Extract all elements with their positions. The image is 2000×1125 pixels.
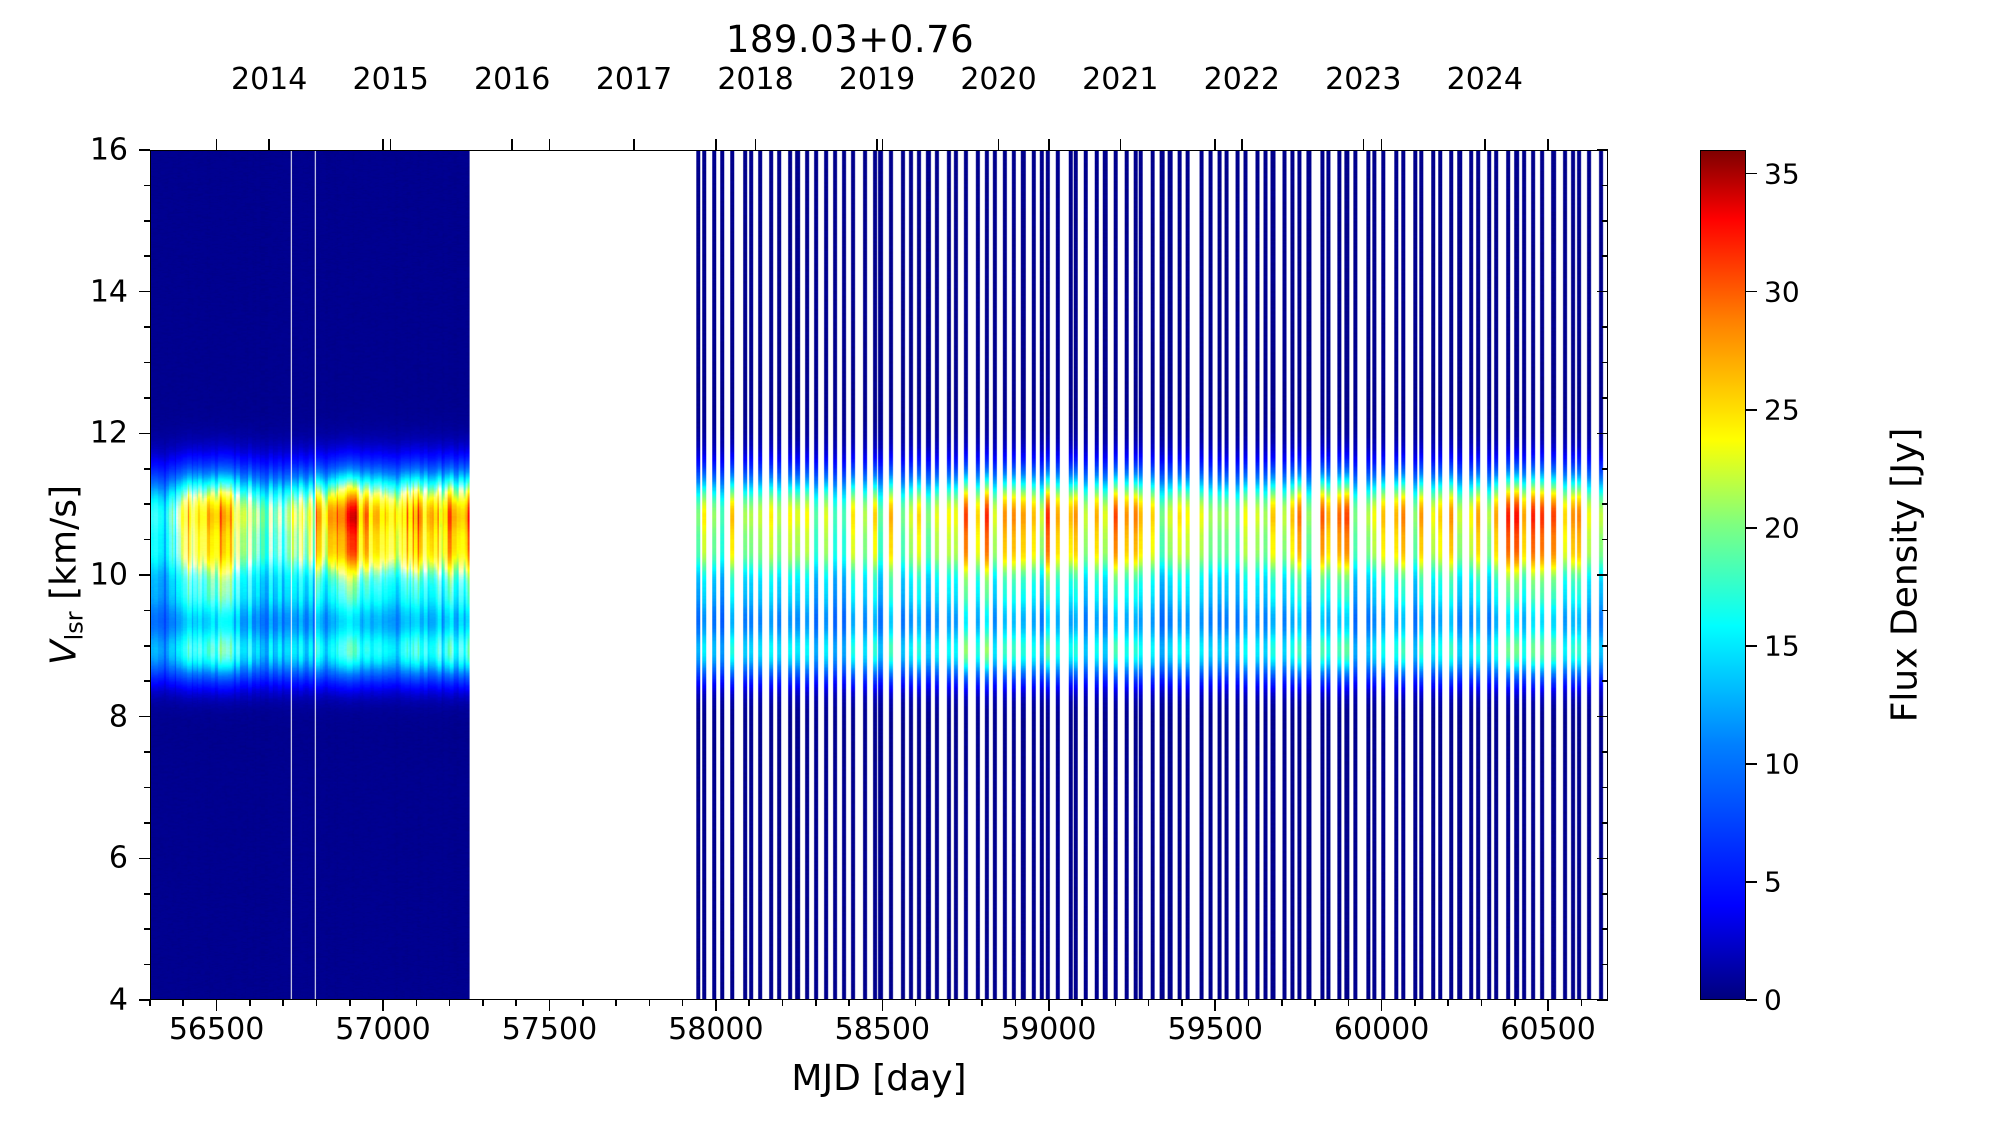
x-axis-minor-tick bbox=[682, 1000, 684, 1006]
colorbar-tick-label: 10 bbox=[1764, 747, 1800, 780]
year-axis-tick bbox=[1484, 139, 1486, 150]
x-axis-tick-top bbox=[1214, 139, 1216, 150]
y-axis-minor-tick bbox=[144, 751, 150, 753]
y-axis-minor-tick bbox=[144, 893, 150, 895]
y-axis-minor-tick-right bbox=[1602, 397, 1608, 399]
y-axis-minor-tick bbox=[144, 822, 150, 824]
y-axis-minor-tick-right bbox=[1602, 326, 1608, 328]
y-axis-tick-label: 6 bbox=[0, 841, 128, 876]
y-axis-tick bbox=[139, 858, 150, 860]
y-axis-minor-tick-right bbox=[1602, 893, 1608, 895]
plot-axes[interactable] bbox=[150, 150, 1608, 1000]
y-axis-tick bbox=[139, 149, 150, 151]
x-axis-minor-tick bbox=[615, 1000, 617, 1006]
x-axis-minor-tick bbox=[1447, 1000, 1449, 1006]
x-axis-tick-label: 59000 bbox=[1001, 1012, 1096, 1047]
colorbar-tick-label: 20 bbox=[1764, 511, 1800, 544]
colorbar-tick bbox=[1746, 291, 1757, 293]
y-axis-tick-right bbox=[1597, 716, 1608, 718]
x-axis-tick-label: 58000 bbox=[668, 1012, 763, 1047]
x-axis-tick bbox=[1381, 1000, 1383, 1011]
y-axis-minor-tick bbox=[144, 787, 150, 789]
y-axis-minor-tick-right bbox=[1602, 787, 1608, 789]
x-axis-minor-tick bbox=[1148, 1000, 1150, 1006]
year-axis-tick-label: 2014 bbox=[231, 62, 307, 97]
y-axis-subscript: lsr bbox=[60, 611, 88, 640]
y-axis-tick-right bbox=[1597, 291, 1608, 293]
y-axis-minor-tick bbox=[144, 503, 150, 505]
y-axis-minor-tick bbox=[144, 362, 150, 364]
x-axis-minor-tick bbox=[282, 1000, 284, 1006]
y-axis-tick bbox=[139, 574, 150, 576]
year-axis-tick bbox=[1363, 139, 1365, 150]
colorbar-tick-label: 0 bbox=[1764, 984, 1782, 1017]
year-axis-tick-label: 2023 bbox=[1325, 62, 1401, 97]
x-axis-tick-top bbox=[1547, 139, 1549, 150]
y-axis-minor-tick-right bbox=[1602, 610, 1608, 612]
dynamic-spectrum-heatmap bbox=[151, 151, 1607, 999]
y-axis-tick-label: 14 bbox=[0, 274, 128, 309]
figure-canvas: 189.03+0.76 5650057000575005800058500590… bbox=[0, 0, 2000, 1125]
x-axis-tick bbox=[216, 1000, 218, 1011]
x-axis-minor-tick bbox=[1514, 1000, 1516, 1006]
y-axis-tick-right bbox=[1597, 433, 1608, 435]
x-axis-tick bbox=[1547, 1000, 1549, 1011]
y-axis-tick-label: 4 bbox=[0, 983, 128, 1018]
x-axis-minor-tick bbox=[182, 1000, 184, 1006]
year-axis-tick-label: 2015 bbox=[352, 62, 428, 97]
x-axis-title: MJD [day] bbox=[150, 1058, 1608, 1099]
y-axis-minor-tick-right bbox=[1602, 822, 1608, 824]
y-axis-minor-tick bbox=[144, 964, 150, 966]
colorbar-tick-label: 35 bbox=[1764, 157, 1800, 190]
y-axis-minor-tick-right bbox=[1602, 645, 1608, 647]
y-axis-tick-right bbox=[1597, 999, 1608, 1001]
y-axis-minor-tick bbox=[144, 468, 150, 470]
x-axis-minor-tick bbox=[948, 1000, 950, 1006]
colorbar-tick-label: 5 bbox=[1764, 865, 1782, 898]
x-axis-tick-top bbox=[382, 139, 384, 150]
year-axis-tick-label: 2018 bbox=[717, 62, 793, 97]
y-axis-tick-right bbox=[1597, 574, 1608, 576]
year-axis-tick-label: 2021 bbox=[1082, 62, 1158, 97]
colorbar[interactable] bbox=[1700, 150, 1746, 1000]
y-axis-minor-tick bbox=[144, 255, 150, 257]
y-axis-minor-tick bbox=[144, 185, 150, 187]
x-axis-tick-top bbox=[1381, 139, 1383, 150]
colorbar-tick-label: 15 bbox=[1764, 629, 1800, 662]
year-axis-tick bbox=[268, 139, 270, 150]
x-axis-tick-label: 57000 bbox=[335, 1012, 430, 1047]
y-axis-minor-tick bbox=[144, 326, 150, 328]
y-axis-minor-tick bbox=[144, 928, 150, 930]
colorbar-tick bbox=[1746, 763, 1757, 765]
year-axis-tick-label: 2024 bbox=[1447, 62, 1523, 97]
x-axis-minor-tick bbox=[316, 1000, 318, 1006]
y-axis-minor-tick bbox=[144, 645, 150, 647]
x-axis-minor-tick bbox=[1348, 1000, 1350, 1006]
x-axis-tick-label: 60500 bbox=[1500, 1012, 1595, 1047]
colorbar-tick-label: 30 bbox=[1764, 275, 1800, 308]
x-axis-minor-tick bbox=[1181, 1000, 1183, 1006]
y-axis-tick-right bbox=[1597, 858, 1608, 860]
year-axis-tick bbox=[1241, 139, 1243, 150]
colorbar-tick bbox=[1746, 173, 1757, 175]
y-axis-minor-tick bbox=[144, 397, 150, 399]
x-axis-minor-tick bbox=[1081, 1000, 1083, 1006]
colorbar-tick bbox=[1746, 527, 1757, 529]
year-axis-tick bbox=[390, 139, 392, 150]
colorbar-tick-label: 25 bbox=[1764, 393, 1800, 426]
x-axis-tick-top bbox=[216, 139, 218, 150]
x-axis-tick-top bbox=[549, 139, 551, 150]
x-axis-tick bbox=[549, 1000, 551, 1011]
x-axis-tick bbox=[382, 1000, 384, 1011]
y-axis-minor-tick bbox=[144, 680, 150, 682]
x-axis-minor-tick bbox=[1248, 1000, 1250, 1006]
year-axis-tick bbox=[1120, 139, 1122, 150]
y-axis-minor-tick-right bbox=[1602, 185, 1608, 187]
x-axis-minor-tick bbox=[848, 1000, 850, 1006]
x-axis-minor-tick bbox=[782, 1000, 784, 1006]
x-axis-minor-tick bbox=[149, 1000, 151, 1006]
x-axis-tick-top bbox=[882, 139, 884, 150]
x-axis-tick-label: 60000 bbox=[1334, 1012, 1429, 1047]
x-axis-minor-tick bbox=[649, 1000, 651, 1006]
y-axis-minor-tick bbox=[144, 610, 150, 612]
x-axis-tick-top bbox=[1048, 139, 1050, 150]
x-axis-minor-tick bbox=[582, 1000, 584, 1006]
y-axis-minor-tick-right bbox=[1602, 964, 1608, 966]
x-axis-minor-tick bbox=[482, 1000, 484, 1006]
y-axis-tick bbox=[139, 716, 150, 718]
year-axis-tick bbox=[511, 139, 513, 150]
colorbar-tick bbox=[1746, 645, 1757, 647]
y-axis-minor-tick-right bbox=[1602, 928, 1608, 930]
y-axis-minor-tick bbox=[144, 539, 150, 541]
x-axis-minor-tick bbox=[515, 1000, 517, 1006]
x-axis-tick bbox=[1214, 1000, 1216, 1011]
y-axis-minor-tick-right bbox=[1602, 751, 1608, 753]
year-axis-tick bbox=[755, 139, 757, 150]
year-axis-tick-label: 2022 bbox=[1204, 62, 1280, 97]
y-axis-minor-tick bbox=[144, 220, 150, 222]
colorbar-title: Flux Density [Jy] bbox=[1885, 325, 1926, 825]
x-axis-minor-tick bbox=[981, 1000, 983, 1006]
x-axis-tick-label: 59500 bbox=[1167, 1012, 1262, 1047]
x-axis-minor-tick bbox=[349, 1000, 351, 1006]
colorbar-tick bbox=[1746, 409, 1757, 411]
x-axis-minor-tick bbox=[1281, 1000, 1283, 1006]
x-axis-tick-label: 56500 bbox=[169, 1012, 264, 1047]
y-axis-minor-tick-right bbox=[1602, 680, 1608, 682]
x-axis-tick bbox=[882, 1000, 884, 1011]
y-axis-title: Vlsr [km/s] bbox=[44, 375, 89, 775]
y-axis-minor-tick-right bbox=[1602, 255, 1608, 257]
y-axis-minor-tick-right bbox=[1602, 503, 1608, 505]
y-axis-tick bbox=[139, 433, 150, 435]
y-axis-minor-tick-right bbox=[1602, 362, 1608, 364]
y-axis-variable: V bbox=[44, 640, 85, 665]
x-axis-minor-tick bbox=[1015, 1000, 1017, 1006]
y-axis-minor-tick-right bbox=[1602, 468, 1608, 470]
y-axis-tick-label: 16 bbox=[0, 133, 128, 168]
year-axis-tick bbox=[633, 139, 635, 150]
y-axis-unit: [km/s] bbox=[44, 485, 85, 611]
x-axis-tick bbox=[715, 1000, 717, 1011]
x-axis-minor-tick bbox=[748, 1000, 750, 1006]
x-axis-tick bbox=[1048, 1000, 1050, 1011]
year-axis-tick-label: 2016 bbox=[474, 62, 550, 97]
x-axis-tick-label: 58500 bbox=[835, 1012, 930, 1047]
y-axis-tick bbox=[139, 999, 150, 1001]
x-axis-minor-tick bbox=[915, 1000, 917, 1006]
year-axis-tick-label: 2019 bbox=[839, 62, 915, 97]
y-axis-minor-tick-right bbox=[1602, 539, 1608, 541]
y-axis-minor-tick-right bbox=[1602, 220, 1608, 222]
x-axis-minor-tick bbox=[1115, 1000, 1117, 1006]
y-axis-tick-right bbox=[1597, 149, 1608, 151]
x-axis-tick-top bbox=[715, 139, 717, 150]
x-axis-minor-tick bbox=[815, 1000, 817, 1006]
year-axis-tick-label: 2017 bbox=[596, 62, 672, 97]
figure-title: 189.03+0.76 bbox=[0, 18, 1700, 61]
year-axis-tick bbox=[876, 139, 878, 150]
x-axis-tick-label: 57500 bbox=[502, 1012, 597, 1047]
x-axis-minor-tick bbox=[1481, 1000, 1483, 1006]
x-axis-minor-tick bbox=[449, 1000, 451, 1006]
x-axis-minor-tick bbox=[1314, 1000, 1316, 1006]
x-axis-minor-tick bbox=[249, 1000, 251, 1006]
year-axis-tick-label: 2020 bbox=[960, 62, 1036, 97]
colorbar-tick bbox=[1746, 881, 1757, 883]
y-axis-tick bbox=[139, 291, 150, 293]
colorbar-tick bbox=[1746, 999, 1757, 1001]
x-axis-minor-tick bbox=[1414, 1000, 1416, 1006]
year-axis-tick bbox=[998, 139, 1000, 150]
x-axis-minor-tick bbox=[1581, 1000, 1583, 1006]
x-axis-minor-tick bbox=[416, 1000, 418, 1006]
